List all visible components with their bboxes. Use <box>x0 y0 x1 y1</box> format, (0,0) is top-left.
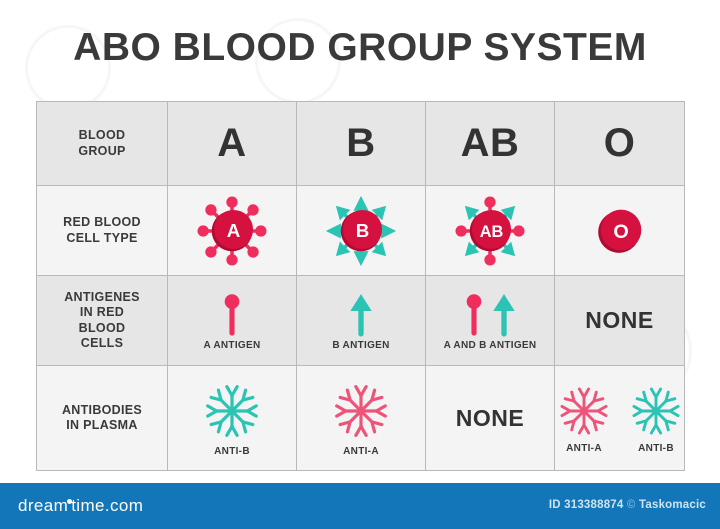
table-row-antigens: ANTIGENES IN RED BLOOD CELLS A ANTIGEN <box>37 276 684 366</box>
row-label-antigens: ANTIGENES IN RED BLOOD CELLS <box>37 276 168 365</box>
antigen-cell-a: A ANTIGEN <box>168 276 297 365</box>
row-label-line: IN PLASMA <box>66 418 137 432</box>
header-cell-ab: AB <box>426 102 555 185</box>
antibody-caption: ANTI-A <box>343 446 379 457</box>
antigen-caption: A ANTIGEN <box>204 340 261 351</box>
row-label-line: CELL TYPE <box>66 231 137 245</box>
blood-group-letter: AB <box>461 121 520 166</box>
antibody-caption: ANTI-B <box>214 446 250 457</box>
table-row-blood-group: BLOOD GROUP A B AB O <box>37 102 684 186</box>
abo-blood-group-infographic: ABO BLOOD GROUP SYSTEM BLOOD GROUP A B A… <box>0 0 720 529</box>
antibody-cell-o: ANTI-A <box>555 366 685 470</box>
row-label-red-blood-cell-type: RED BLOOD CELL TYPE <box>37 186 168 275</box>
cell-type-o: O <box>555 186 684 275</box>
blood-group-table: BLOOD GROUP A B AB O RED BLOOD CEL <box>36 101 685 471</box>
cell-letter: B <box>356 220 370 241</box>
b-antigen-arrow-icon <box>348 291 374 337</box>
row-label-text: BLOOD GROUP <box>78 128 125 159</box>
antibody-pair: ANTI-A <box>555 382 685 454</box>
header-cell-o: O <box>555 102 684 185</box>
row-label-line: ANTIBODIES <box>62 403 142 417</box>
row-label-line: IN RED <box>80 305 124 319</box>
antibody-pink-icon <box>329 379 393 443</box>
antigen-none-label: NONE <box>585 307 653 334</box>
header-cell-a: A <box>168 102 297 185</box>
image-id: ID 313388874 <box>549 499 624 511</box>
antibody-unit-anti-a: ANTI-A <box>555 382 613 454</box>
antigen-caption: A AND B ANTIGEN <box>444 340 537 351</box>
copyright-icon: © <box>627 499 636 511</box>
antigen-icons <box>463 291 517 337</box>
cell-type-b: B <box>297 186 426 275</box>
row-label-line: BLOOD <box>79 128 126 142</box>
antigen-icons <box>221 291 243 337</box>
antibody-none-label: NONE <box>456 405 524 432</box>
header-cell-b: B <box>297 102 426 185</box>
antibody-cell-b: ANTI-A <box>297 366 426 470</box>
red-blood-cell-a-icon: A <box>193 192 271 270</box>
logo-part-2: time.com <box>71 496 143 515</box>
row-label-text: ANTIGENES IN RED BLOOD CELLS <box>64 290 140 351</box>
b-antigen-arrow-icon <box>491 291 517 337</box>
logo-part-1: dream <box>18 496 68 515</box>
author-name: Taskomacic <box>639 499 706 511</box>
cell-letter: A <box>227 220 241 241</box>
antigen-cell-b: B ANTIGEN <box>297 276 426 365</box>
row-label-line: GROUP <box>78 144 125 158</box>
cell-type-ab: AB <box>426 186 555 275</box>
red-blood-cell-b-icon: B <box>322 192 400 270</box>
blood-group-letter: A <box>217 121 246 166</box>
row-label-antibodies: ANTIBODIES IN PLASMA <box>37 366 168 470</box>
blood-group-letter: B <box>346 121 375 166</box>
cell-type-a: A <box>168 186 297 275</box>
antibody-teal-icon <box>200 379 264 443</box>
table-row-red-blood-cell-type: RED BLOOD CELL TYPE <box>37 186 684 276</box>
antibody-caption: ANTI-B <box>638 443 674 454</box>
antigen-icons <box>348 291 374 337</box>
row-label-blood-group: BLOOD GROUP <box>37 102 168 185</box>
red-blood-cell-ab-icon: AB <box>451 192 529 270</box>
row-label-text: RED BLOOD CELL TYPE <box>63 215 141 246</box>
row-label-text: ANTIBODIES IN PLASMA <box>62 403 142 434</box>
a-antigen-pin-icon <box>463 291 485 337</box>
antibody-pink-icon <box>555 382 613 440</box>
antibody-teal-icon <box>627 382 685 440</box>
image-id-credit: ID 313388874 © Taskomacic <box>549 499 706 511</box>
table-row-antibodies: ANTIBODIES IN PLASMA <box>37 366 684 470</box>
antibody-cell-a: ANTI-B <box>168 366 297 470</box>
red-blood-cell-o-icon: O <box>594 205 646 257</box>
a-antigen-pin-icon <box>221 291 243 337</box>
row-label-line: CELLS <box>81 336 123 350</box>
antigen-caption: B ANTIGEN <box>332 340 389 351</box>
footer-bar: dreamtime.com ID 313388874 © Taskomacic <box>0 483 720 529</box>
row-label-line: BLOOD <box>79 321 126 335</box>
blood-group-letter: O <box>604 121 636 166</box>
dreamstime-logo[interactable]: dreamtime.com <box>18 496 143 516</box>
row-label-line: ANTIGENES <box>64 290 140 304</box>
cell-letter: O <box>613 220 628 242</box>
page-title: ABO BLOOD GROUP SYSTEM <box>0 26 720 70</box>
antibody-caption: ANTI-A <box>566 443 602 454</box>
cell-letter: AB <box>480 223 504 241</box>
antibody-cell-ab: NONE <box>426 366 555 470</box>
antigen-cell-o: NONE <box>555 276 684 365</box>
antigen-cell-ab: A AND B ANTIGEN <box>426 276 555 365</box>
row-label-line: RED BLOOD <box>63 215 141 229</box>
antibody-unit-anti-b: ANTI-B <box>627 382 685 454</box>
